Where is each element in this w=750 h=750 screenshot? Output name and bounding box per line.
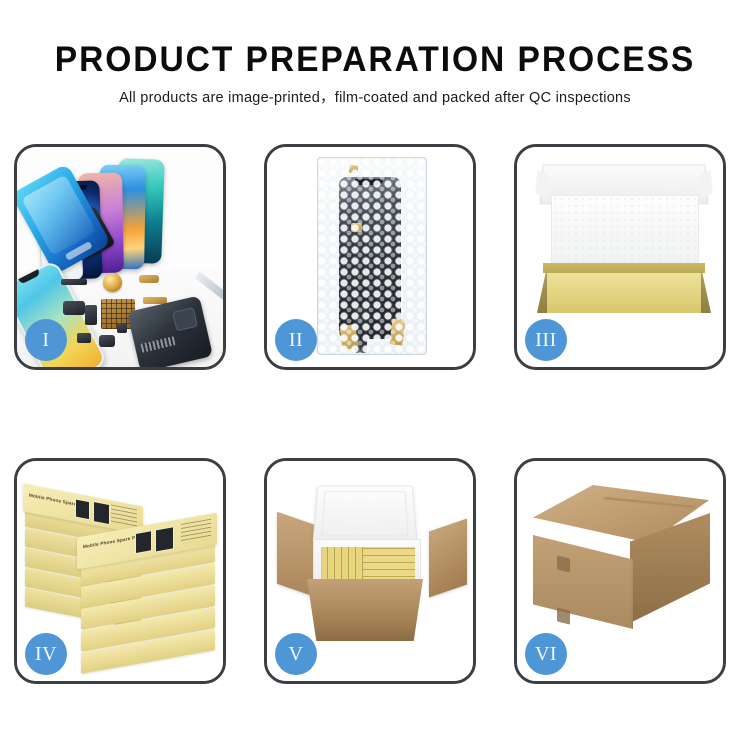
camera-module-icon — [63, 301, 85, 315]
connector-strip-icon — [61, 279, 87, 285]
step-badge-1: I — [25, 319, 67, 361]
carton-flap-right-icon — [429, 518, 467, 597]
box-window-icon — [75, 498, 90, 520]
yellow-boxes-row-icon — [363, 547, 415, 583]
styrofoam-lid-icon — [313, 486, 418, 544]
bubble-wrap-bag-icon — [317, 157, 427, 355]
step-numeral-1: I — [42, 330, 49, 350]
step-numeral-3: III — [535, 330, 556, 350]
page-title: PRODUCT PREPARATION PROCESS — [15, 0, 735, 77]
carton-tape-icon — [557, 607, 570, 624]
page-subtitle: All products are image-printed，film-coat… — [0, 77, 750, 106]
step-badge-3: III — [525, 319, 567, 361]
bag-edge-highlight — [317, 157, 427, 355]
process-step-card-2[interactable]: II — [264, 144, 476, 370]
step-numeral-5: V — [289, 644, 304, 664]
box-inner-edge — [543, 263, 705, 273]
button-icon — [117, 323, 127, 333]
box-printed-lines — [181, 519, 211, 544]
speaker-icon — [99, 335, 115, 347]
step-badge-5: V — [275, 633, 317, 675]
flex-cable-icon — [85, 305, 97, 325]
product-preparation-infographic: PRODUCT PREPARATION PROCESS All products… — [0, 0, 750, 750]
white-foam-sheet-icon — [551, 195, 699, 271]
box-window-icon — [93, 501, 110, 525]
step-badge-6: VI — [525, 633, 567, 675]
box-printed-lines — [111, 504, 137, 527]
carton-tape-icon — [557, 555, 570, 572]
vibrator-icon — [77, 333, 91, 343]
step-numeral-6: VI — [535, 644, 557, 664]
box-window-icon — [155, 526, 174, 552]
step-badge-2: II — [275, 319, 317, 361]
speaker-coil-icon — [103, 273, 122, 292]
step-badge-4: IV — [25, 633, 67, 675]
box-window-icon — [135, 530, 152, 554]
step-numeral-4: IV — [35, 644, 57, 664]
process-step-card-1[interactable]: I — [14, 144, 226, 370]
process-step-card-4[interactable]: Mobile Phone Spare Parts Mobile Phone Sp… — [14, 458, 226, 684]
step-numeral-2: II — [289, 330, 303, 350]
process-step-grid: I II — [14, 144, 736, 736]
process-step-card-3[interactable]: III — [514, 144, 726, 370]
process-step-card-5[interactable]: V — [264, 458, 476, 684]
header: PRODUCT PREPARATION PROCESS All products… — [0, 0, 750, 106]
carton-body-icon — [307, 579, 423, 641]
process-step-card-6[interactable]: VI — [514, 458, 726, 684]
gold-flex-icon — [139, 275, 159, 283]
